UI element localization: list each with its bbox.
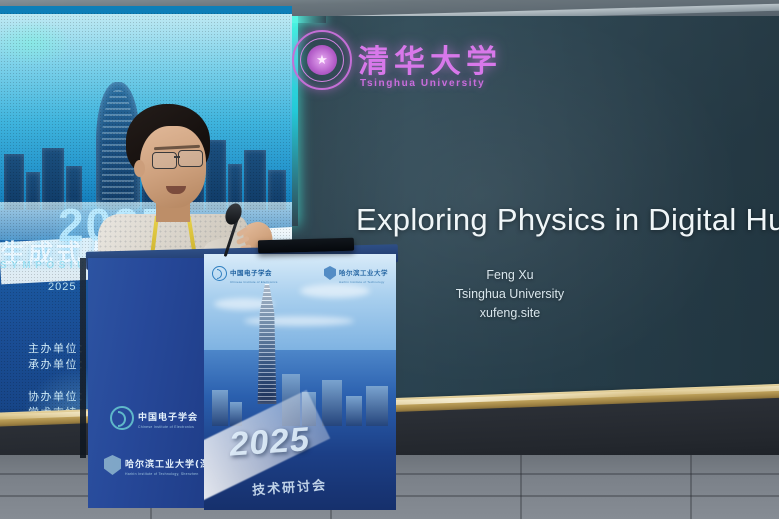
podium-side-panel: 中国电子学会 Chinese Institute of Electronics … <box>88 258 206 508</box>
podium: 中国电子学会 Chinese Institute of Electronics … <box>88 262 396 519</box>
slide-title: Exploring Physics in Digital Huma <box>356 202 779 238</box>
eyeglasses-lens-right <box>178 150 203 167</box>
speaker-ear <box>134 160 145 177</box>
podium-front-logo-cie: 中国电子学会 Chinese Institute of Electronics <box>212 262 278 284</box>
screen-edge-glow-top <box>288 16 326 23</box>
laptop-on-podium <box>258 238 354 254</box>
podium-front-logo-hit: 哈尔滨工业大学 Harbin Institute of Technology <box>324 262 388 284</box>
floor-seam <box>690 455 692 519</box>
hit-shield-icon <box>104 455 121 475</box>
floor-seam <box>520 455 522 519</box>
eyeglasses-bridge <box>174 156 180 158</box>
led-mesh-graphic <box>0 20 72 66</box>
podium-building <box>346 396 362 426</box>
led-date: 2025 <box>48 281 76 293</box>
cie-name-cn: 中国电子学会 <box>230 269 272 277</box>
university-name-cn: 清华大学 <box>358 36 502 81</box>
podium-year-text: 2025 <box>228 420 312 464</box>
podium-logo-cie: 中国电子学会 Chinese Institute of Electronics <box>110 406 198 430</box>
hit-name-cn: 哈尔滨工业大学 <box>339 269 388 277</box>
podium-building <box>322 380 342 426</box>
cie-ring-icon <box>110 406 134 430</box>
hit-shield-icon <box>324 266 336 280</box>
podium-caption-cn: 技术研讨会 <box>251 474 327 498</box>
cie-name-en: Chinese Institute of Electronics <box>138 425 198 429</box>
cie-ring-icon <box>212 266 227 281</box>
podium-building <box>212 390 228 426</box>
cie-name-cn: 中国电子学会 <box>138 413 198 423</box>
presentation-photo-scene: ★ 清华大学 Tsinghua University Exploring Phy… <box>0 0 779 519</box>
cloud <box>300 284 370 298</box>
tsinghua-seal-icon: ★ <box>292 30 352 90</box>
hit-name-en: Harbin Institute of Technology <box>339 280 388 284</box>
eyeglasses-lens-left <box>152 152 177 169</box>
university-name-en: Tsinghua University <box>360 78 485 89</box>
podium-building <box>366 386 388 426</box>
cie-name-en: Chinese Institute of Electronics <box>230 280 278 284</box>
screen-frame-post <box>80 258 86 458</box>
podium-front-panel: 中国电子学会 Chinese Institute of Electronics … <box>204 254 396 510</box>
seal-star-icon: ★ <box>316 53 328 66</box>
